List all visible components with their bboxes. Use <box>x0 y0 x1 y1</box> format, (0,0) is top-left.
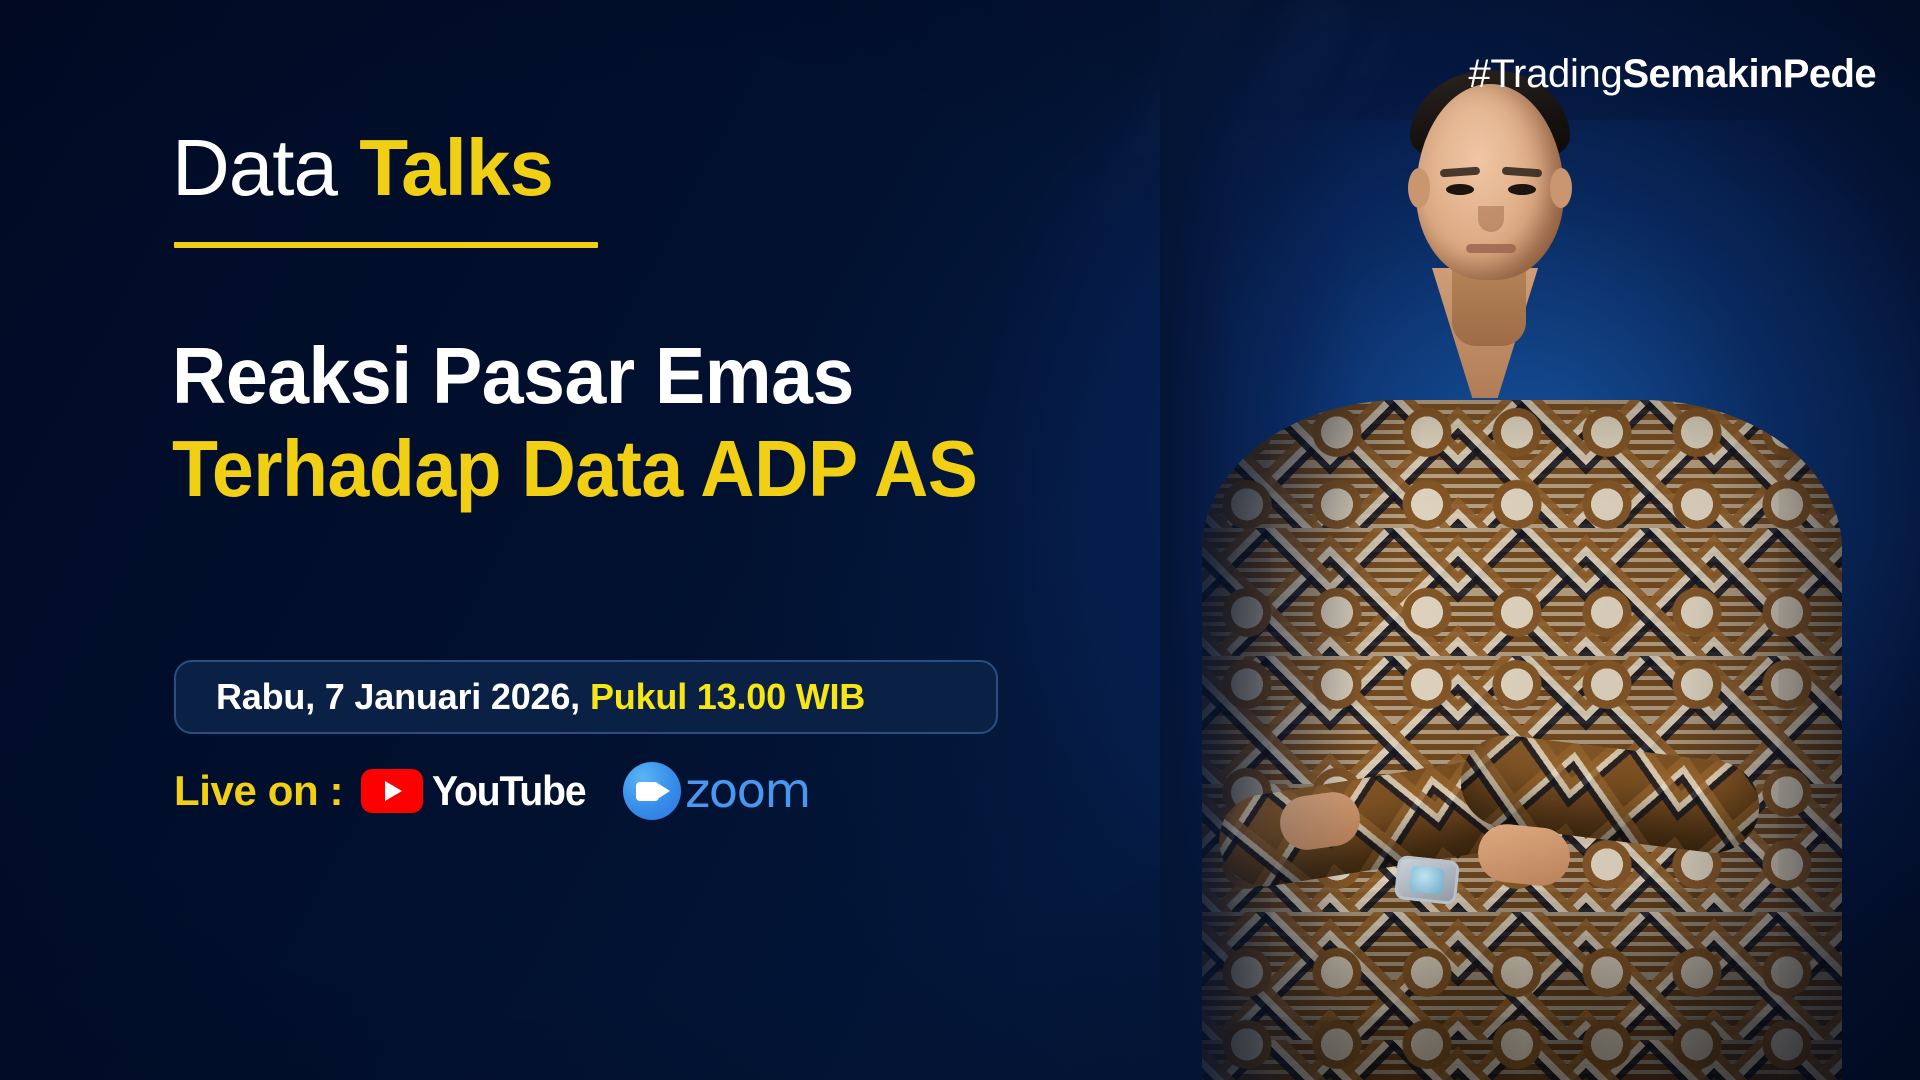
youtube-wordmark: YouTube <box>432 767 585 815</box>
presenter-nose <box>1478 206 1504 232</box>
zoom-wordmark: zoom <box>685 763 810 819</box>
zoom-logo[interactable]: zoom <box>623 762 810 820</box>
wristwatch <box>1394 855 1460 905</box>
presenter-photo <box>1160 0 1920 1080</box>
schedule-pill: Rabu, 7 Januari 2026, Pukul 13.00 WIB <box>174 660 998 734</box>
title-underline-bar <box>174 242 598 248</box>
presenter-eye-left <box>1446 184 1474 195</box>
headline-line-one: Reaksi Pasar Emas <box>172 330 977 423</box>
youtube-logo[interactable]: YouTube <box>361 767 597 815</box>
content-column: Data Talks Reaksi Pasar Emas Terhadap Da… <box>172 0 1172 1080</box>
hashtag-light-text: #Trading <box>1468 52 1622 96</box>
presenter-eye-right <box>1508 184 1536 195</box>
presenter-ear-left <box>1408 168 1430 208</box>
hashtag-bold-text: SemakinPede <box>1622 52 1876 96</box>
live-platforms-row: Live on : YouTube zoom <box>174 762 810 820</box>
zoom-camera-icon <box>623 762 681 820</box>
youtube-play-icon <box>361 769 423 813</box>
program-title-word-one: Data <box>172 123 337 212</box>
headline-line-two: Terhadap Data ADP AS <box>172 423 977 516</box>
schedule-time: Pukul 13.00 WIB <box>590 676 865 718</box>
episode-headline: Reaksi Pasar Emas Terhadap Data ADP AS <box>172 330 977 516</box>
live-on-label: Live on : <box>174 767 343 815</box>
promo-banner: #TradingSemakinPede Data Talks Reaksi Pa… <box>0 0 1920 1080</box>
campaign-hashtag: #TradingSemakinPede <box>1468 52 1876 96</box>
presenter-ear-right <box>1550 168 1572 208</box>
schedule-date: Rabu, 7 Januari 2026, <box>216 676 580 718</box>
presenter-mouth <box>1466 244 1516 253</box>
program-title-word-two: Talks <box>359 123 553 212</box>
program-title: Data Talks <box>172 128 553 208</box>
